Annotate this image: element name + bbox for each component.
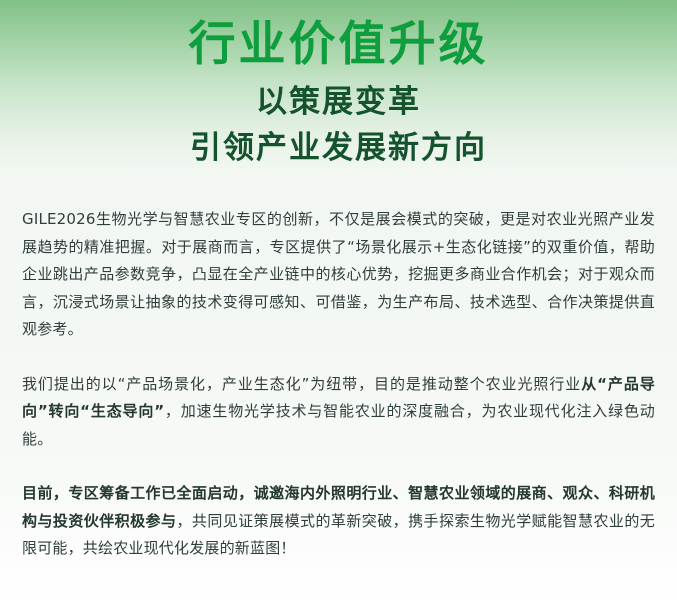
paragraph-2: 我们提出的以“产品场景化，产业生态化”为纽带，目的是推动整个农业光照行业从“产品… [22, 371, 655, 454]
promo-page: 行业价值升级 以策展变革 引领产业发展新方向 GILE2026生物光学与智慧农业… [0, 0, 677, 606]
paragraph-1: GILE2026生物光学与智慧农业专区的创新，不仅是展会模式的突破，更是对农业光… [22, 206, 655, 344]
paragraph-3: 目前，专区筹备工作已全面启动，诚邀海内外照明行业、智慧农业领域的展商、观众、科研… [22, 480, 655, 563]
page-subtitle-line-2: 引领产业发展新方向 [0, 126, 677, 170]
page-title: 行业价值升级 [0, 16, 677, 74]
paragraph-2-text-1: 我们提出的以“产品场景化，产业生态化”为纽带，目的是推动整个农业光照行业 [22, 375, 581, 393]
header-banner: 行业价值升级 以策展变革 引领产业发展新方向 [0, 0, 677, 170]
body-content: GILE2026生物光学与智慧农业专区的创新，不仅是展会模式的突破，更是对农业光… [0, 206, 677, 563]
page-subtitle-line-1: 以策展变革 [0, 80, 677, 124]
